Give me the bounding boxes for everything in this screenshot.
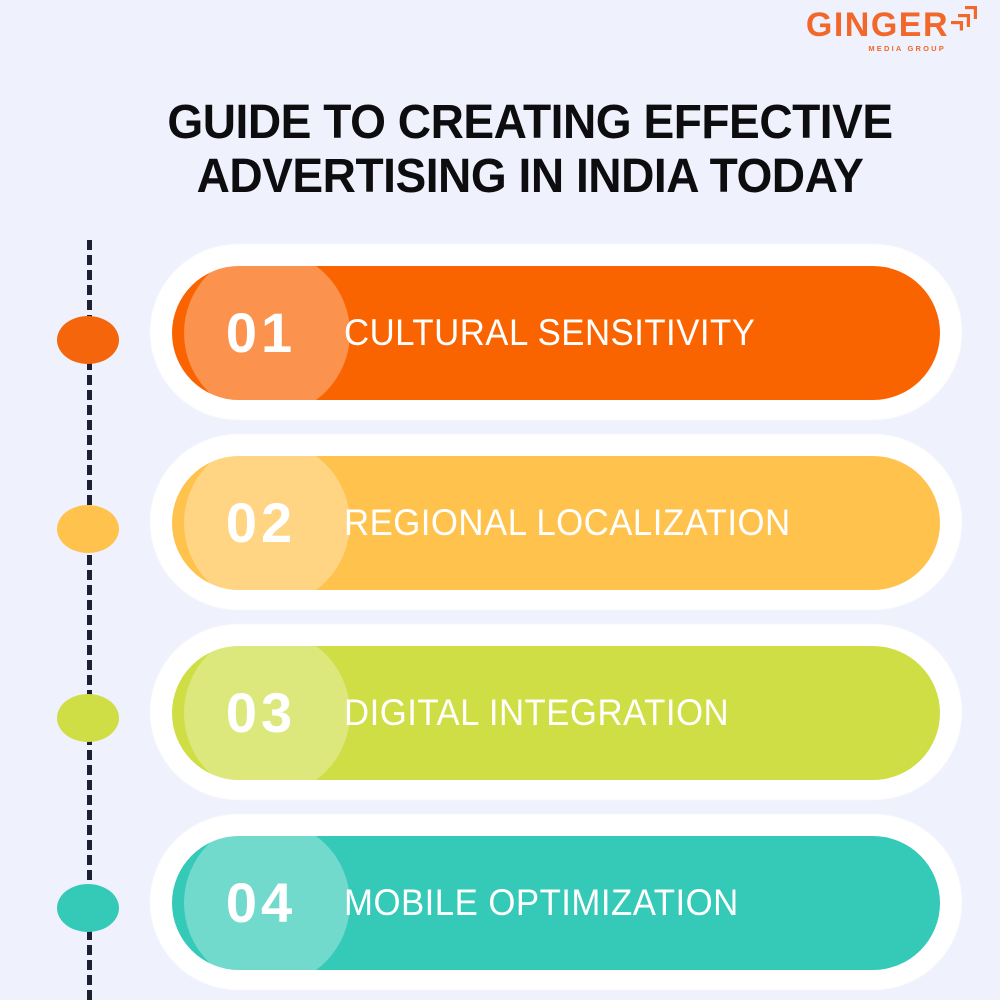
step-row-03[interactable]: 03 DIGITAL INTEGRATION: [150, 624, 962, 800]
step-row-01[interactable]: 01 CULTURAL SENSITIVITY: [150, 244, 962, 420]
brand-logo: GINGER MEDIA GROUP: [806, 8, 978, 53]
page-title-line-2: ADVERTISING IN INDIA TODAY: [165, 150, 895, 204]
step-bar[interactable]: 01 CULTURAL SENSITIVITY: [172, 266, 940, 400]
brand-logo-row: GINGER: [806, 8, 978, 42]
timeline-dot-04: [57, 884, 119, 932]
page-title: GUIDE TO CREATING EFFECTIVE ADVERTISING …: [165, 96, 895, 204]
step-number: 04: [172, 875, 350, 931]
timeline-dot-01: [57, 316, 119, 364]
step-row-02[interactable]: 02 REGIONAL LOCALIZATION: [150, 434, 962, 610]
step-label: DIGITAL INTEGRATION: [344, 692, 729, 734]
step-bar[interactable]: 04 MOBILE OPTIMIZATION: [172, 836, 940, 970]
step-label: CULTURAL SENSITIVITY: [344, 312, 755, 354]
step-number: 03: [172, 685, 350, 741]
brand-wordmark: GINGER: [806, 8, 949, 42]
brand-tagline: MEDIA GROUP: [868, 45, 946, 53]
step-bar[interactable]: 02 REGIONAL LOCALIZATION: [172, 456, 940, 590]
timeline-dot-03: [57, 694, 119, 742]
step-bar[interactable]: 03 DIGITAL INTEGRATION: [172, 646, 940, 780]
nested-squares-icon: [951, 6, 978, 31]
step-number: 02: [172, 495, 350, 551]
step-row-04[interactable]: 04 MOBILE OPTIMIZATION: [150, 814, 962, 990]
step-label: MOBILE OPTIMIZATION: [344, 882, 739, 924]
infographic-canvas: GINGER MEDIA GROUP GUIDE TO CREATING EFF…: [0, 0, 1000, 1000]
step-label: REGIONAL LOCALIZATION: [344, 502, 791, 544]
step-number: 01: [172, 305, 350, 361]
timeline-dot-02: [57, 505, 119, 553]
page-title-line-1: GUIDE TO CREATING EFFECTIVE: [165, 96, 895, 150]
